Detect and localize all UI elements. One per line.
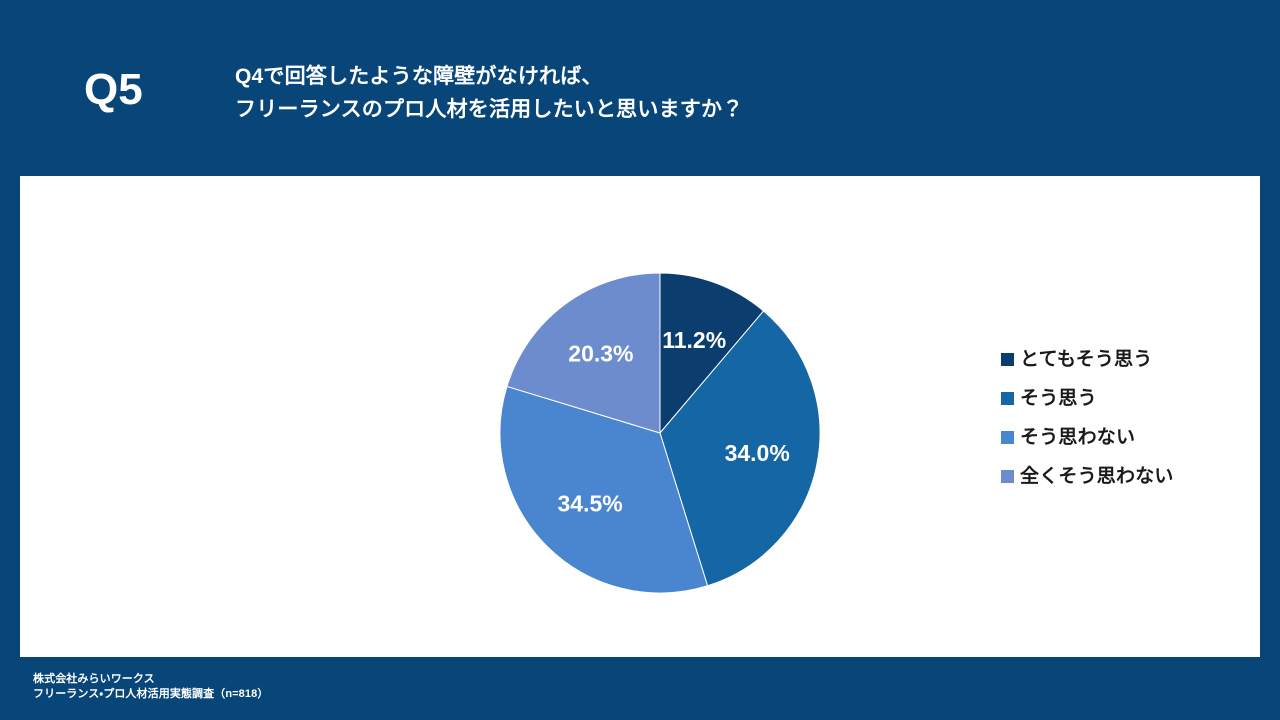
pie-slice-label: 34.5% bbox=[557, 490, 622, 516]
chart-card: 11.2%34.0%34.5%20.3% とてもそう思うそう思うそう思わない全く… bbox=[20, 176, 1260, 657]
legend-item-label: そう思わない bbox=[1020, 428, 1135, 447]
footer-company: 株式会社みらいワークス bbox=[33, 672, 268, 687]
square-swatch-icon bbox=[1001, 470, 1014, 483]
pie-slice-group bbox=[500, 273, 820, 593]
pie-slice-label: 20.3% bbox=[568, 340, 633, 366]
legend-item-label: 全くそう思わない bbox=[1020, 467, 1174, 486]
legend-item[interactable]: そう思わない bbox=[1001, 418, 1231, 457]
legend-item[interactable]: とてもそう思う bbox=[1001, 340, 1231, 379]
legend-item-label: そう思う bbox=[1020, 389, 1097, 408]
question-title-line-1: Q4で回答したような障壁がなければ、 bbox=[235, 60, 1035, 93]
pie-chart-svg: 11.2%34.0%34.5%20.3% bbox=[480, 253, 840, 613]
question-title-line-2: フリーランスのプロ人材を活用したいと思いますか？ bbox=[235, 93, 1035, 126]
slide-header: Q5 Q4で回答したような障壁がなければ、 フリーランスのプロ人材を活用したいと… bbox=[0, 0, 1280, 176]
chart-legend: とてもそう思うそう思うそう思わない全くそう思わない bbox=[1001, 340, 1231, 496]
legend-item[interactable]: 全くそう思わない bbox=[1001, 457, 1231, 496]
pie-chart: 11.2%34.0%34.5%20.3% bbox=[480, 253, 840, 613]
question-title: Q4で回答したような障壁がなければ、 フリーランスのプロ人材を活用したいと思いま… bbox=[235, 60, 1035, 126]
square-swatch-icon bbox=[1001, 392, 1014, 405]
square-swatch-icon bbox=[1001, 431, 1014, 444]
legend-item-label: とてもそう思う bbox=[1020, 350, 1153, 369]
slide-canvas: Q5 Q4で回答したような障壁がなければ、 フリーランスのプロ人材を活用したいと… bbox=[0, 0, 1280, 720]
slide-footer: 株式会社みらいワークス フリーランス・プロ人材活用実態調査（n=818） bbox=[33, 672, 268, 702]
footer-survey: フリーランス・プロ人材活用実態調査（n=818） bbox=[33, 687, 268, 702]
pie-slice-label: 34.0% bbox=[725, 440, 790, 466]
question-number: Q5 bbox=[84, 68, 143, 112]
legend-item[interactable]: そう思う bbox=[1001, 379, 1231, 418]
pie-slice-label: 11.2% bbox=[662, 327, 726, 353]
square-swatch-icon bbox=[1001, 353, 1014, 366]
